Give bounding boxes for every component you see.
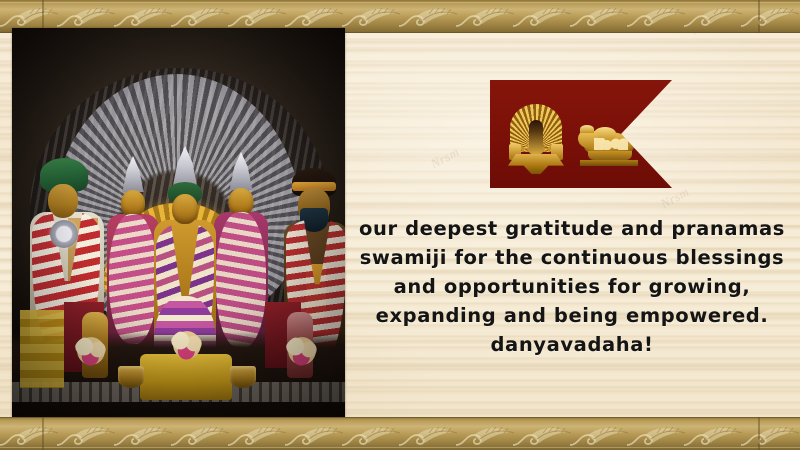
flower-cluster: [170, 330, 204, 360]
nandi-horns: [580, 125, 594, 133]
message-line-1: our deepest gratitude and pranamas: [352, 214, 792, 243]
nandi-bell-ornaments: [594, 138, 628, 150]
message-line-4: expanding and being empowered.: [352, 301, 792, 330]
yellow-altar-cloth: [140, 354, 232, 400]
deity-idol-right: [212, 152, 270, 357]
deity-with-arch-emblem-icon: [508, 104, 564, 174]
flower-cluster: [285, 336, 319, 366]
greeting-card-canvas: Nrsm Nrsm Nrsm Nrsm Nrsm Nrsm Nrsm Nrsm …: [0, 0, 800, 450]
border-hairline-light: [0, 2, 800, 3]
emblem-pedestal: [508, 154, 564, 174]
silver-crown: [119, 156, 147, 192]
yellow-drape-left: [20, 310, 64, 388]
message-line-5: danyavadaha!: [352, 330, 792, 359]
border-hairline-light: [0, 447, 800, 448]
brass-vessel-left: [118, 366, 144, 388]
scroll-motif-icon: [0, 417, 800, 450]
brass-vessel-right: [230, 366, 256, 388]
gratitude-message: our deepest gratitude and pranamas swami…: [352, 214, 792, 359]
silver-crown: [226, 152, 256, 190]
idol-face: [172, 194, 198, 224]
message-line-3: and opportunities for growing,: [352, 272, 792, 301]
nandi-plinth: [580, 160, 638, 166]
flower-cluster: [74, 336, 108, 366]
idol-face: [121, 190, 145, 217]
emblem-deity-figure: [529, 120, 543, 154]
temple-deity-photo: [12, 28, 345, 418]
border-corner-divider: [42, 417, 44, 450]
flower-garland: [216, 212, 266, 348]
nandi-legs: [588, 151, 632, 160]
border-corner-divider: [758, 0, 760, 33]
border-corner-divider: [758, 417, 760, 450]
border-hairline-dark: [0, 417, 800, 418]
silver-pendant: [50, 220, 78, 248]
message-line-2: swamiji for the continuous blessings: [352, 243, 792, 272]
bottom-ornamental-border: [0, 417, 800, 450]
